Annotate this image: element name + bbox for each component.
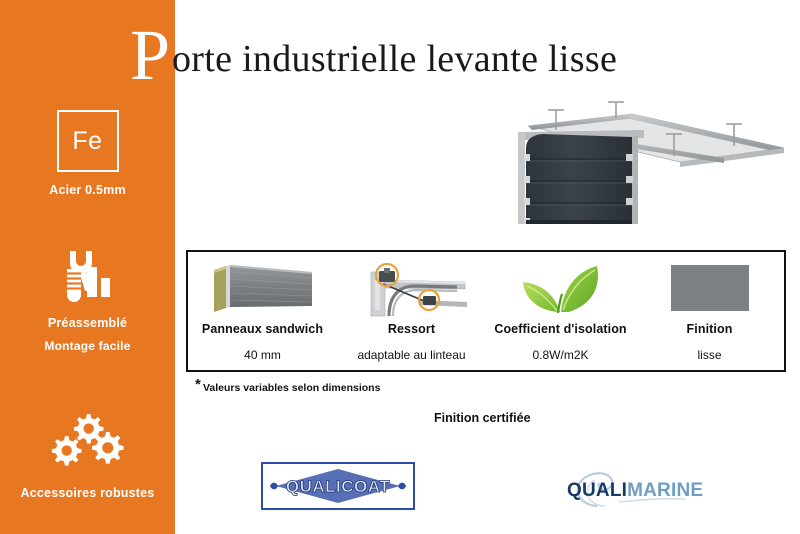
qualimarine-part1: QUALI <box>567 480 627 501</box>
sandwich-panel-icon <box>188 258 337 320</box>
feature-value-finish: lisse <box>697 348 721 362</box>
feature-title-panel: Panneaux sandwich <box>202 322 323 337</box>
spring-rail-icon <box>337 258 486 320</box>
qualimarine-logo: QUALIMARINE <box>561 466 721 510</box>
feature-title-spring: Ressort <box>388 322 435 337</box>
footnote-text: Valeurs variables selon dimensions <box>203 382 380 394</box>
wrench-screw-icon <box>0 245 175 305</box>
preassembled-caption-line1: Préassemblé <box>0 314 175 333</box>
preassembled-caption-line2: Montage facile <box>0 337 175 355</box>
green-leaves-icon <box>486 258 635 320</box>
feature-box: Panneaux sandwich 40 mm <box>186 250 786 372</box>
feature-value-panel: 40 mm <box>244 348 281 362</box>
sidebar-item-preassembled: Préassemblé Montage facile <box>0 245 175 355</box>
feature-cell-panel: Panneaux sandwich 40 mm <box>188 252 337 370</box>
feature-cell-spring: Ressort adaptable au linteau <box>337 252 486 370</box>
feature-cell-insulation: Coefficient d'isolation 0.8W/m2K <box>486 252 635 370</box>
sidebar-item-steel: Fe Acier 0.5mm <box>0 110 175 200</box>
certification-label: Finition certifiée <box>434 411 531 425</box>
qualicoat-logo: QUALICOAT <box>261 462 415 510</box>
qualimarine-wordmark: QUALIMARINE <box>567 480 703 502</box>
fe-steel-icon: Fe <box>57 110 119 172</box>
feature-title-insulation: Coefficient d'isolation <box>494 322 626 337</box>
footnote-asterisk: * <box>195 376 201 393</box>
grey-swatch-icon <box>635 258 784 320</box>
feature-value-spring: adaptable au linteau <box>357 348 465 362</box>
fe-symbol-label: Fe <box>72 129 102 154</box>
qualimarine-part2: MARINE <box>627 480 703 501</box>
footnote: *Valeurs variables selon dimensions <box>203 382 380 394</box>
feature-title-finish: Finition <box>687 322 733 337</box>
steel-caption: Acier 0.5mm <box>0 181 175 200</box>
sectional-overhead-door-image <box>512 88 788 228</box>
slide-canvas: Fe Acier 0.5mm <box>0 0 800 534</box>
page-title-initial: P <box>130 19 170 91</box>
svg-text:QUALICOAT: QUALICOAT <box>286 477 390 496</box>
sidebar-item-accessories: Accessoires robustes <box>0 412 175 503</box>
feature-value-insulation: 0.8W/m2K <box>532 348 588 362</box>
feature-cell-finish: Finition lisse <box>635 252 784 370</box>
gears-icon <box>0 412 175 472</box>
page-title: orte industrielle levante lisse <box>172 40 617 78</box>
accessories-caption: Accessoires robustes <box>0 484 175 503</box>
